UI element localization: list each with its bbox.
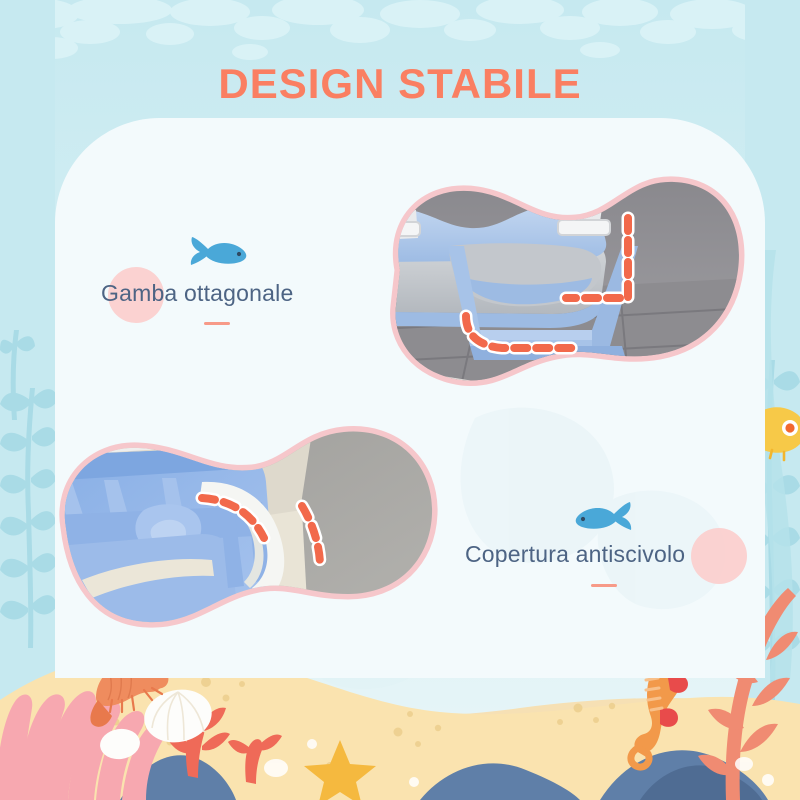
poster-canvas: DESIGN STABILE Gamba ottagonale Co [0, 0, 800, 800]
feature-label: Copertura antiscivolo [465, 541, 685, 568]
photo-bathtub-leg [330, 150, 750, 400]
feature-pill-circle [691, 528, 747, 584]
page-title: DESIGN STABILE [0, 60, 800, 108]
feature-underline-dash [591, 584, 617, 587]
fish-icon [190, 235, 252, 274]
feature-underline-dash [204, 322, 230, 325]
photo-antislip-underside [52, 398, 472, 658]
fish-icon [570, 500, 632, 539]
feature-label: Gamba ottagonale [101, 280, 293, 307]
